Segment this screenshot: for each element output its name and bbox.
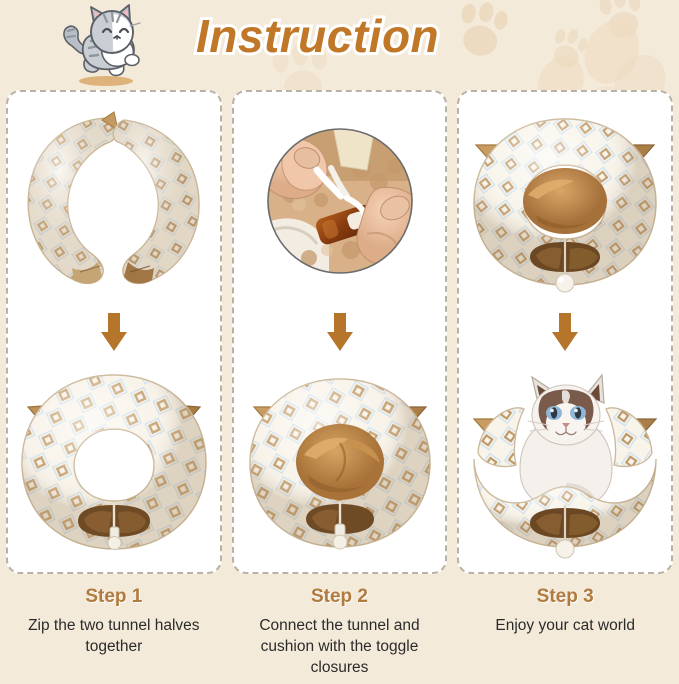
- step-text-2: Connect the tunnel and cushion with the …: [232, 616, 448, 679]
- step-captions-row: Step 1 Zip the two tunnel halves togethe…: [0, 574, 679, 679]
- toggle-closure-closeup-photo: [234, 92, 446, 309]
- step-panel-1: [6, 90, 222, 574]
- page-title: Instruction: [196, 9, 439, 63]
- zipped-tunnel-donut-photo: [8, 355, 220, 572]
- step-panel-2: [232, 90, 448, 574]
- page-header: Instruction: [0, 0, 679, 90]
- down-arrow-icon: [552, 309, 578, 355]
- tunnel-halves-photo: [8, 92, 220, 309]
- step-text-1: Zip the two tunnel halves together: [6, 616, 222, 658]
- caption-step-2: Step 2 Connect the tunnel and cushion wi…: [232, 586, 448, 679]
- step-panel-3: [457, 90, 673, 574]
- steps-panel-row: [0, 90, 679, 574]
- step-label-3: Step 3: [457, 586, 673, 608]
- leaping-cat-icon: [58, 2, 150, 88]
- step-text-3: Enjoy your cat world: [457, 616, 673, 637]
- down-arrow-icon: [101, 309, 127, 355]
- cat-in-tunnel-photo: [459, 355, 671, 572]
- finished-cat-tunnel-photo: [459, 92, 671, 309]
- caption-step-1: Step 1 Zip the two tunnel halves togethe…: [6, 586, 222, 679]
- step-label-2: Step 2: [232, 586, 448, 608]
- tunnel-with-cushion-photo: [234, 355, 446, 572]
- caption-step-3: Step 3 Enjoy your cat world: [457, 586, 673, 679]
- down-arrow-icon: [327, 309, 353, 355]
- step-label-1: Step 1: [6, 586, 222, 608]
